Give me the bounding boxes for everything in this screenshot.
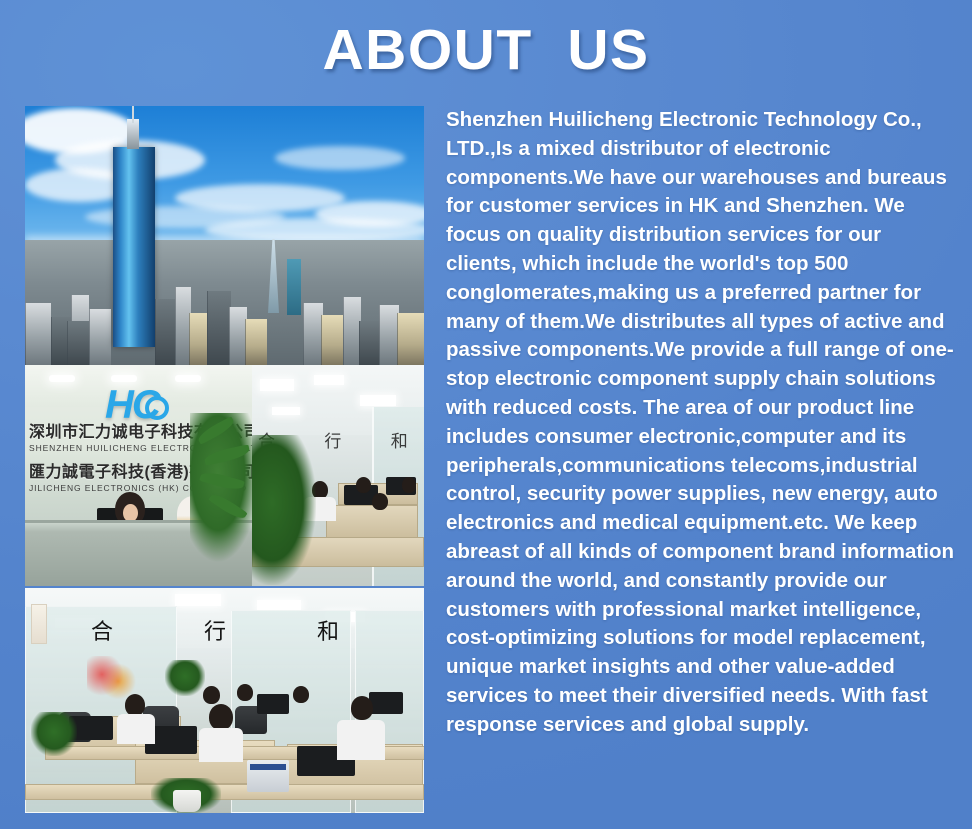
twin-tower [287, 259, 301, 315]
ceiling-panel-light [272, 407, 300, 415]
building [189, 313, 209, 365]
shenzhen-skyline-photo [25, 106, 424, 365]
ceiling-panel-light [260, 379, 294, 391]
company-reception-photo: HC 深圳市汇力诚电子科技有限公司 SHENZHEN HUILICHENG EL… [25, 365, 252, 586]
cubicle-panel [326, 505, 418, 539]
monitor [369, 692, 403, 714]
worker-head [203, 686, 220, 704]
about-body-text: Shenzhen Huilicheng Electronic Technolog… [446, 106, 954, 740]
ceiling-panel-light [175, 594, 221, 606]
worker-head [402, 477, 416, 493]
open-plan-office-photo: 合 行 和 [25, 588, 424, 813]
worker-body [337, 720, 385, 760]
cityscape [25, 240, 424, 365]
worker-head [293, 686, 309, 703]
building [25, 303, 51, 365]
plant-leaf [199, 469, 245, 493]
ceiling-light [175, 375, 201, 382]
worker-head [351, 696, 373, 720]
plant-vase [173, 790, 201, 812]
building [397, 313, 424, 365]
building [207, 291, 231, 365]
ceiling-light [49, 375, 75, 382]
desk-surface [25, 784, 424, 800]
ceiling-panel-light [314, 375, 344, 385]
worker-head [209, 704, 233, 730]
plant-leaf [208, 491, 247, 522]
plant-leaf [203, 444, 250, 465]
hc-logo: HC [105, 385, 169, 425]
photo-gallery: HC 深圳市汇力诚电子科技有限公司 SHENZHEN HUILICHENG EL… [25, 106, 424, 813]
building [245, 319, 267, 365]
worker-head [125, 694, 145, 716]
wall-calligraphy: 合 行 和 [91, 614, 381, 646]
ceiling-panel-light [360, 395, 396, 406]
building [379, 305, 399, 365]
building [321, 315, 345, 365]
shun-hing-square-tower [113, 147, 155, 347]
worker-body [199, 728, 243, 762]
building [303, 303, 323, 365]
kk100-tower [268, 239, 279, 313]
worker-head [356, 477, 371, 493]
ceiling-light [111, 375, 137, 382]
wall-scroll-art [31, 604, 47, 644]
photo-row: HC 深圳市汇力诚电子科技有限公司 SHENZHEN HUILICHENG EL… [25, 365, 424, 586]
monitor [257, 694, 289, 714]
potted-plant [165, 660, 205, 696]
plant-leaf [196, 416, 236, 444]
label-printer [247, 760, 289, 792]
building [359, 321, 381, 365]
worker-head [372, 493, 388, 510]
potted-plant [190, 413, 252, 563]
page-title: ABOUT US [0, 18, 972, 82]
hc-logo-ring [145, 396, 169, 420]
cloud-shape [275, 146, 405, 170]
potted-plant [252, 435, 316, 585]
worker-head [237, 684, 253, 701]
building [89, 309, 111, 365]
worker-body [117, 714, 155, 744]
office-desks-photo: 合 行 和 [252, 365, 424, 586]
building [155, 299, 177, 365]
potted-plant [31, 712, 77, 756]
about-us-page: ABOUT US [0, 0, 972, 829]
